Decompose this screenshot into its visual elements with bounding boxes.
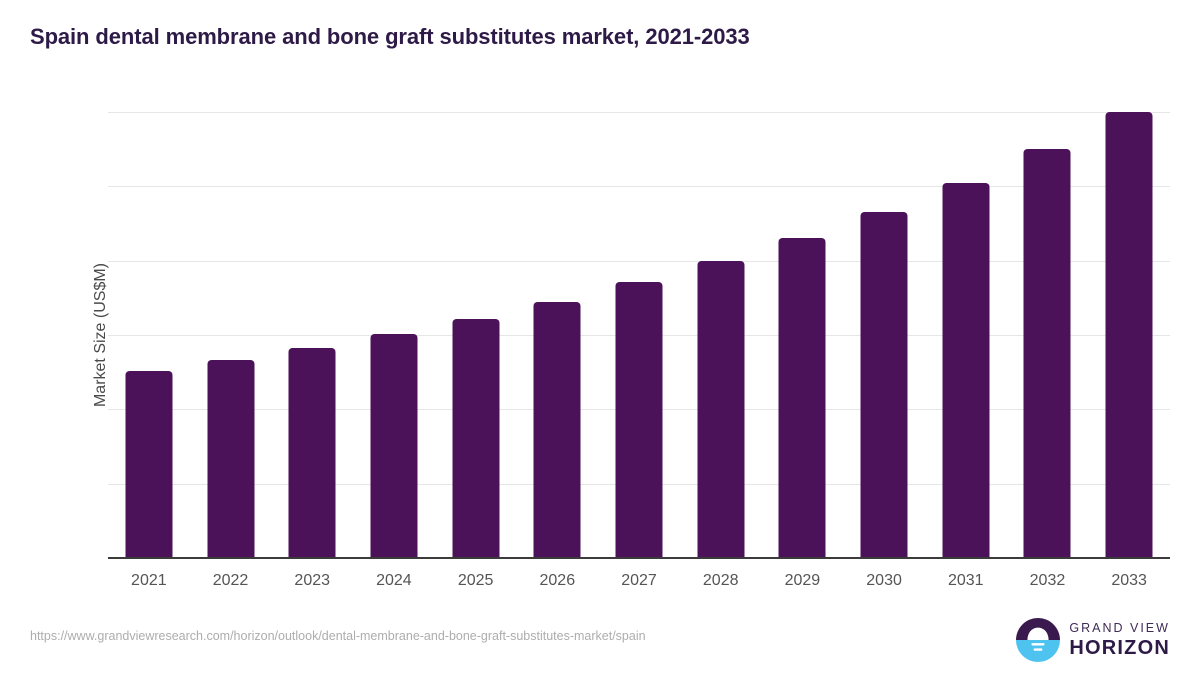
bar[interactable] xyxy=(779,238,826,558)
x-axis-line xyxy=(108,557,1170,559)
x-axis-tick-label: 2032 xyxy=(1030,572,1066,590)
x-axis-tick-label: 2033 xyxy=(1111,572,1147,590)
source-url[interactable]: https://www.grandviewresearch.com/horizo… xyxy=(30,629,646,643)
bar-group: 2025 xyxy=(435,112,517,558)
bar[interactable] xyxy=(370,334,417,558)
x-axis-tick-label: 2021 xyxy=(131,572,167,590)
bar[interactable] xyxy=(534,302,581,558)
x-axis-tick-label: 2026 xyxy=(540,572,576,590)
bar[interactable] xyxy=(697,261,744,558)
bar[interactable] xyxy=(942,183,989,558)
bar-group: 2032 xyxy=(1007,112,1089,558)
logo-line-1: GRAND VIEW xyxy=(1069,622,1170,635)
x-axis-tick-label: 2027 xyxy=(621,572,657,590)
bar[interactable] xyxy=(1024,149,1071,558)
chart-page: Spain dental membrane and bone graft sub… xyxy=(0,0,1200,675)
bar-group: 2021 xyxy=(108,112,190,558)
bar-group: 2024 xyxy=(353,112,435,558)
logo-wordmark: GRAND VIEW HORIZON xyxy=(1069,622,1170,658)
x-axis-tick-label: 2030 xyxy=(866,572,902,590)
bar-series: 2021202220232024202520262027202820292030… xyxy=(108,112,1170,558)
bar-group: 2023 xyxy=(271,112,353,558)
bar-group: 2022 xyxy=(190,112,272,558)
bar-group: 2030 xyxy=(843,112,925,558)
bar-group: 2033 xyxy=(1088,112,1170,558)
grand-view-horizon-logo[interactable]: GRAND VIEW HORIZON xyxy=(1016,617,1170,663)
bar-group: 2029 xyxy=(762,112,844,558)
bar[interactable] xyxy=(615,282,662,558)
bar[interactable] xyxy=(207,360,254,558)
bar-group: 2028 xyxy=(680,112,762,558)
logo-line-2: HORIZON xyxy=(1069,638,1170,658)
bar-group: 2027 xyxy=(598,112,680,558)
bar[interactable] xyxy=(289,348,336,558)
bar[interactable] xyxy=(861,212,908,558)
horizon-circle-icon xyxy=(1016,618,1060,662)
bar-group: 2031 xyxy=(925,112,1007,558)
x-axis-tick-label: 2023 xyxy=(294,572,330,590)
x-axis-tick-label: 2029 xyxy=(785,572,821,590)
x-axis-tick-label: 2031 xyxy=(948,572,984,590)
plot-area: Market Size (US$M) 0102030405060 2021202… xyxy=(108,112,1170,558)
bar-group: 2026 xyxy=(516,112,598,558)
bar[interactable] xyxy=(125,371,172,558)
bar[interactable] xyxy=(452,319,499,558)
x-axis-tick-label: 2022 xyxy=(213,572,249,590)
x-axis-tick-label: 2025 xyxy=(458,572,494,590)
x-axis-tick-label: 2024 xyxy=(376,572,412,590)
page-title: Spain dental membrane and bone graft sub… xyxy=(30,24,750,50)
x-axis-tick-label: 2028 xyxy=(703,572,739,590)
bar[interactable] xyxy=(1106,112,1153,558)
